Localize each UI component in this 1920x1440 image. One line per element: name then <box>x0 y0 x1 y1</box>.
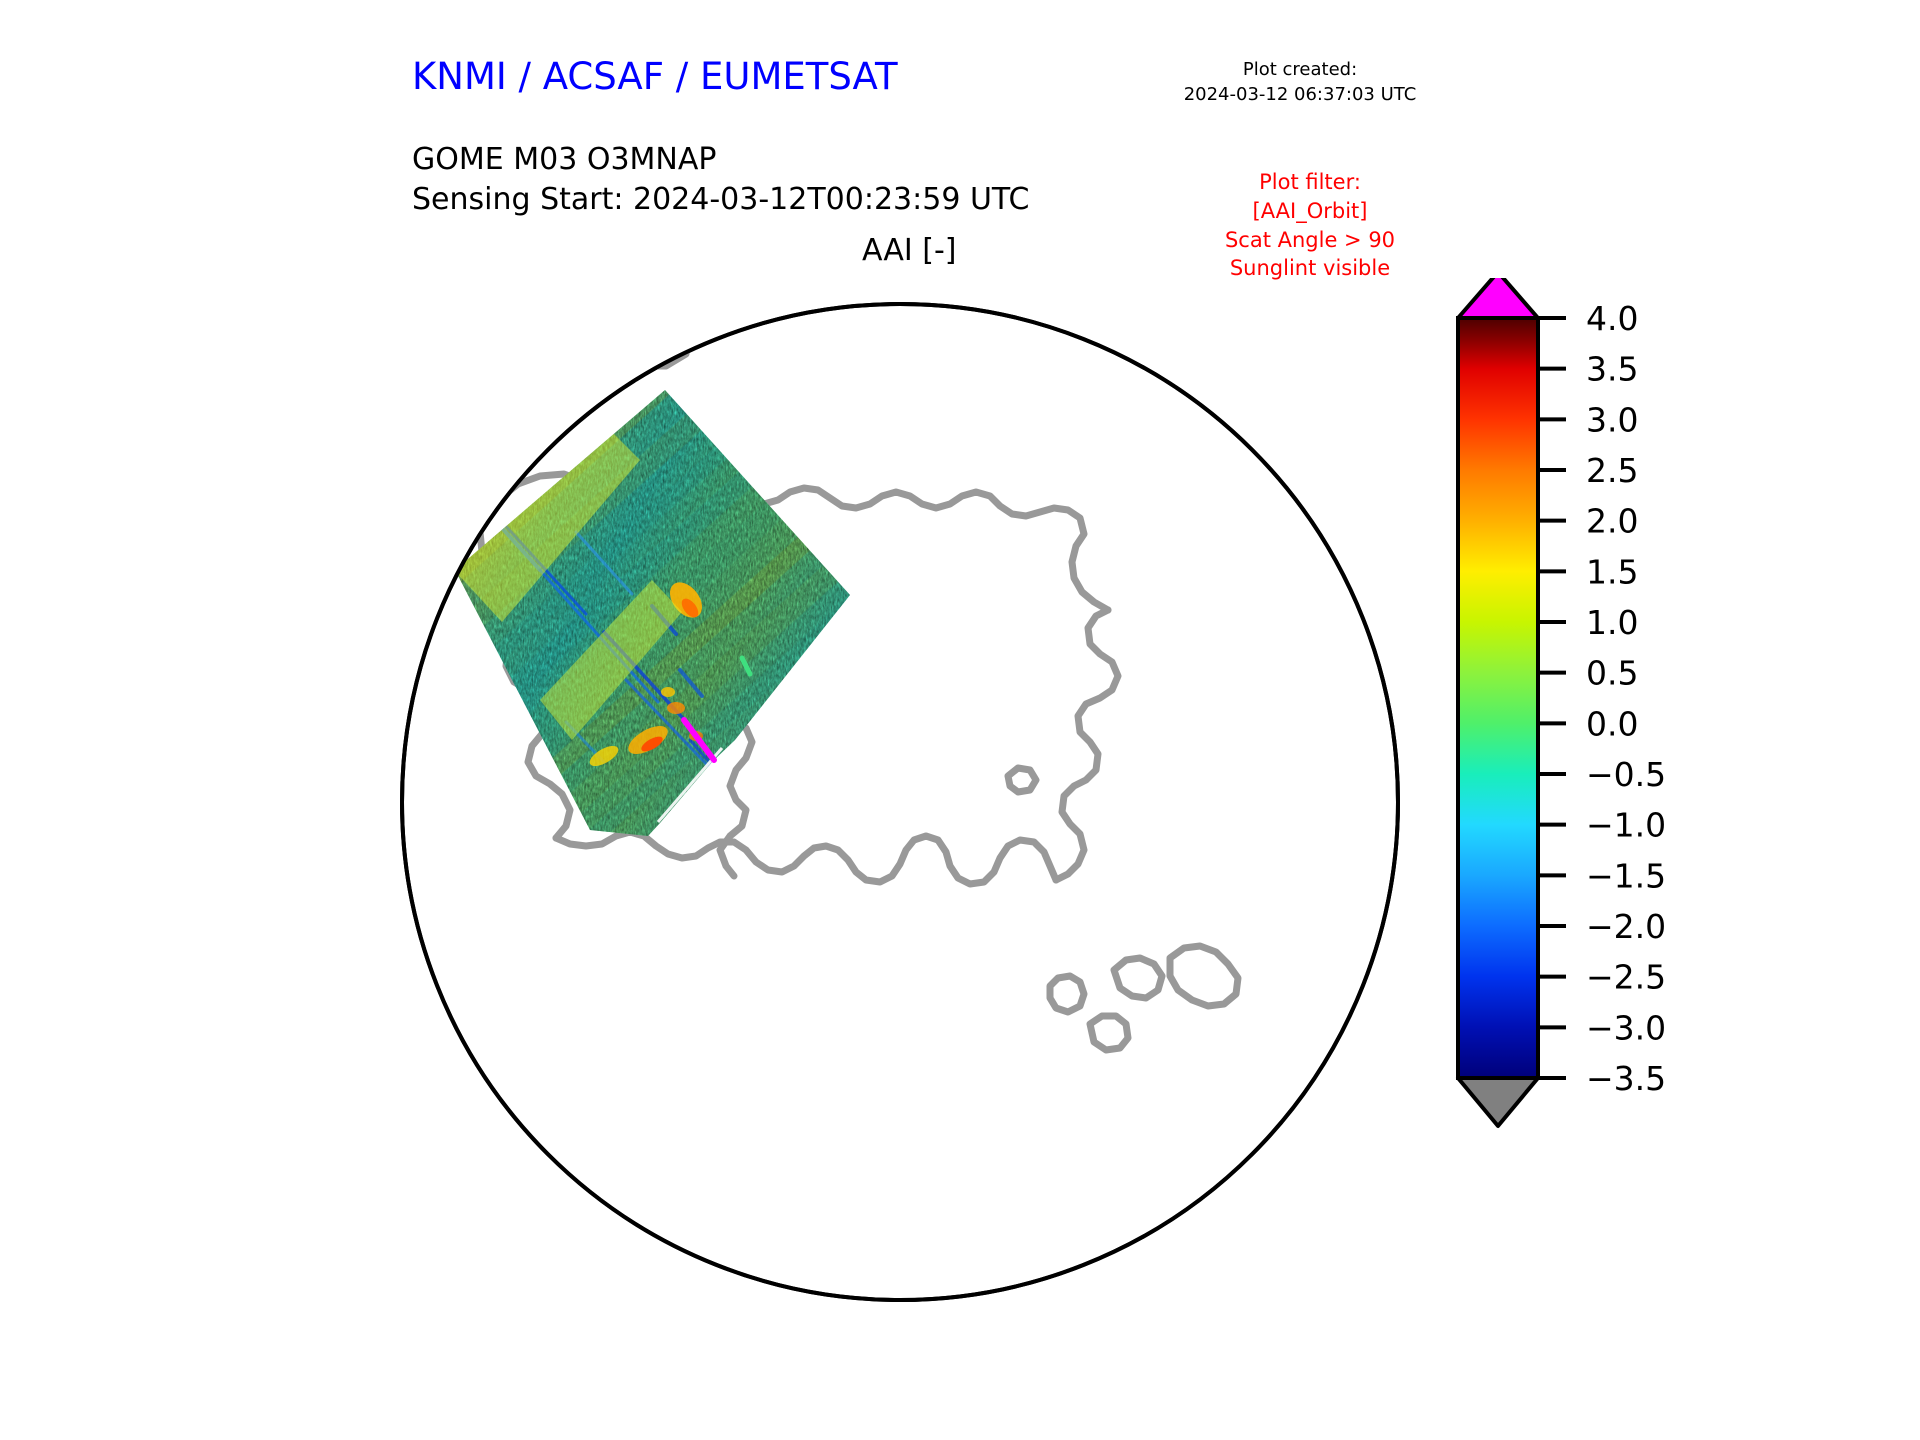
colorbar-tick-label: −1.5 <box>1586 856 1666 895</box>
plot-created-timestamp: 2024-03-12 06:37:03 UTC <box>1155 83 1445 108</box>
colorbar-under-arrow <box>1458 1078 1538 1126</box>
plot-filter-block: Plot filter: [AAI_Orbit] Scat Angle > 90… <box>1175 168 1445 283</box>
page-title: AAI [-] <box>862 233 957 268</box>
figure-canvas: KNMI / ACSAF / EUMETSAT Plot created: 20… <box>0 0 1920 1440</box>
polar-map <box>390 270 1420 1340</box>
colorbar-tick-label: −3.0 <box>1586 1008 1666 1047</box>
globe-outline <box>402 304 1398 1300</box>
instrument-line: GOME M03 O3MNAP <box>412 140 1029 180</box>
colorbar-tick-label: 2.5 <box>1586 451 1638 490</box>
filter-line-3: Scat Angle > 90 <box>1175 226 1445 255</box>
colorbar-tick-label: −2.5 <box>1586 958 1666 997</box>
colorbar-ticks: 4.03.53.02.52.01.51.00.50.0−0.5−1.0−1.5−… <box>1538 299 1666 1098</box>
organisation-title: KNMI / ACSAF / EUMETSAT <box>412 55 898 98</box>
map-plot-area <box>390 270 1420 1340</box>
colorbar-tick-label: −3.5 <box>1586 1059 1666 1098</box>
filter-line-2: [AAI_Orbit] <box>1175 197 1445 226</box>
colorbar-tick-label: −2.0 <box>1586 907 1666 946</box>
colorbar-tick-label: −0.5 <box>1586 755 1666 794</box>
filter-line-1: Plot filter: <box>1175 168 1445 197</box>
plot-created-block: Plot created: 2024-03-12 06:37:03 UTC <box>1155 58 1445 108</box>
product-info-block: GOME M03 O3MNAP Sensing Start: 2024-03-1… <box>412 140 1029 220</box>
colorbar-gradient <box>1458 318 1538 1078</box>
colorbar-tick-label: 2.0 <box>1586 502 1638 541</box>
colorbar-over-arrow <box>1458 278 1538 318</box>
colorbar-tick-label: 4.0 <box>1586 299 1638 338</box>
plot-created-label: Plot created: <box>1155 58 1445 83</box>
colorbar-tick-label: 1.0 <box>1586 603 1638 642</box>
colorbar-tick-label: 1.5 <box>1586 552 1638 591</box>
colorbar: 4.03.53.02.52.01.51.00.50.0−0.5−1.0−1.5−… <box>1440 278 1860 1338</box>
sensing-start-line: Sensing Start: 2024-03-12T00:23:59 UTC <box>412 180 1029 220</box>
colorbar-tick-label: 0.0 <box>1586 704 1638 743</box>
colorbar-tick-label: 3.5 <box>1586 350 1638 389</box>
colorbar-tick-label: 0.5 <box>1586 654 1638 693</box>
colorbar-tick-label: −1.0 <box>1586 806 1666 845</box>
colorbar-tick-label: 3.0 <box>1586 400 1638 439</box>
colorbar-svg: 4.03.53.02.52.01.51.00.50.0−0.5−1.0−1.5−… <box>1440 278 1860 1338</box>
